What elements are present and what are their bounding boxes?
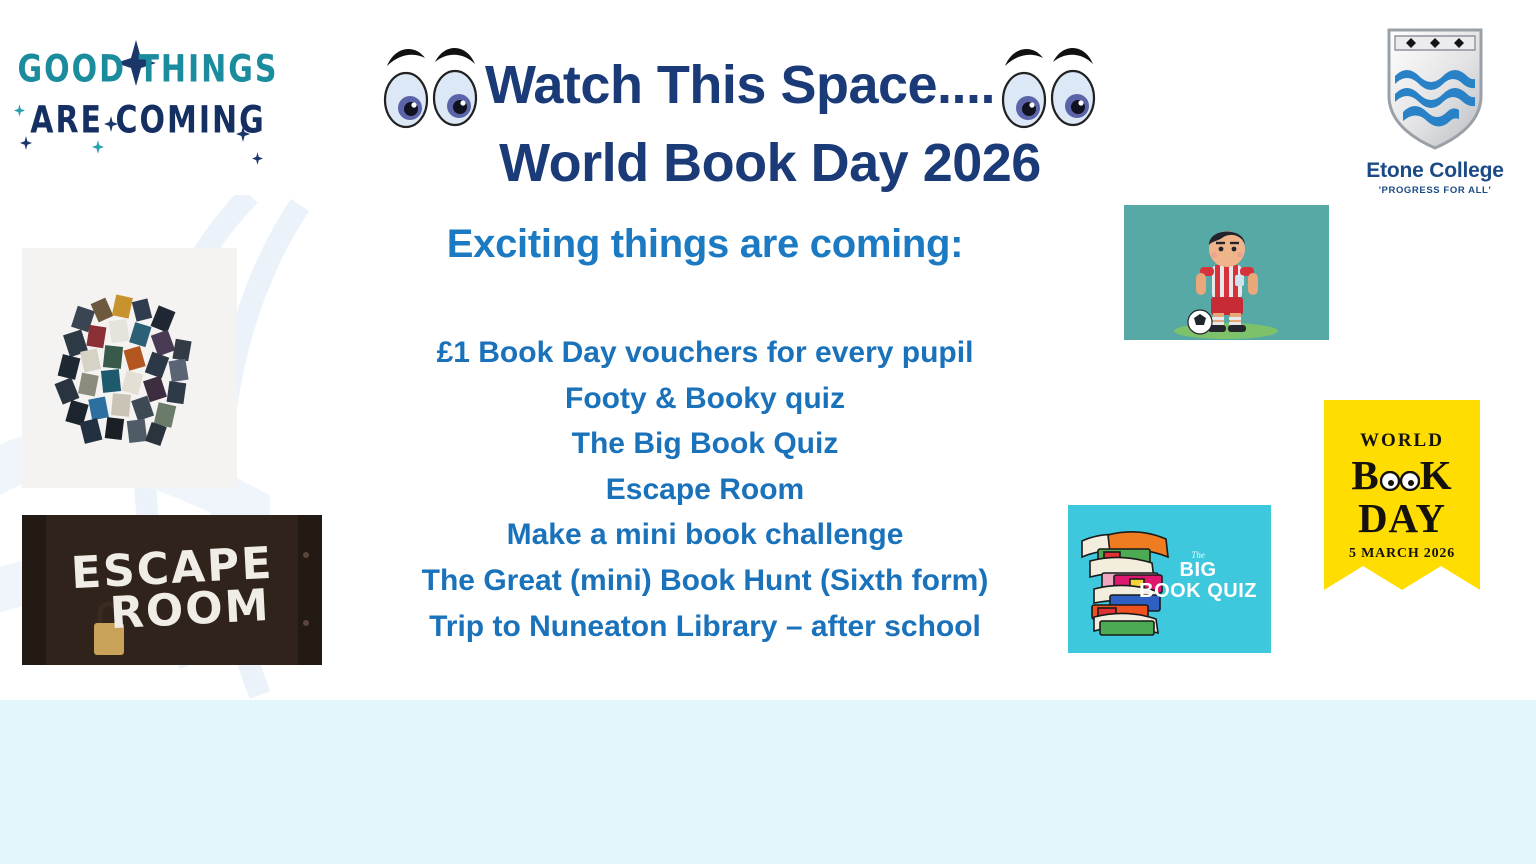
list-item: Footy & Booky quiz [290,376,1120,422]
eyes-icon [381,40,481,132]
partners-footer: BRITISH VALUES AT ETONE COLLEGE [0,700,1536,864]
events-list: £1 Book Day vouchers for every pupil Foo… [290,330,1120,649]
sparkle-small-icon [14,104,25,117]
etone-college-tagline: 'PROGRESS FOR ALL' [1362,185,1508,196]
wbd-date-text: 5 MARCH 2026 [1318,546,1486,562]
title-line-1: Watch This Space.... [485,58,995,113]
etone-shield-icon [1381,24,1489,152]
escape-room-text: ESCAPE ROOM [22,515,322,665]
etone-college-name: Etone College [1362,159,1508,183]
subheading: Exciting things are coming: [290,222,1120,267]
escape-room-image: ESCAPE ROOM [22,515,322,665]
world-book-day-banner: WORLD BK DAY 5 MARCH 2026 [1318,396,1486,614]
bbq-line1: BIG [1139,560,1257,580]
list-item: Make a mini book challenge [290,512,1120,558]
list-item: The Great (mini) Book Hunt (Sixth form) [290,558,1120,604]
sparkle-small-icon [20,136,32,150]
sparkle-small-icon [104,116,118,132]
sparkle-small-icon [236,126,250,142]
bbq-line2: BOOK QUIZ [1139,581,1257,601]
list-item: The Big Book Quiz [290,421,1120,467]
mini-books-photo [22,248,237,488]
sparkle-small-icon [252,152,263,165]
list-item: Trip to Nuneaton Library – after school [290,604,1120,650]
footballer-illustration [1124,205,1329,340]
page-title: Watch This Space.... World Book Day 2026 [290,40,1190,191]
wbd-book-text: BK [1318,451,1486,499]
bbq-the: The [1139,551,1257,560]
big-book-quiz-card: The BIG BOOK QUIZ [1068,505,1271,653]
etone-college-logo: Etone College 'PROGRESS FOR ALL' [1362,24,1508,200]
wbd-world-text: WORLD [1318,430,1486,452]
wbd-day-text: DAY [1318,494,1486,542]
big-book-quiz-text: The BIG BOOK QUIZ [1139,551,1257,601]
list-item: Escape Room [290,467,1120,513]
sparkle-small-icon [92,140,104,154]
good-things-are-coming-logo: GOOD THINGS ARE COMING [8,52,288,192]
eyes-icon [999,40,1099,132]
escape-room-line2: ROOM [109,585,271,636]
title-line-2: World Book Day 2026 [290,136,1190,191]
gtac-line1: GOOD THINGS [8,48,288,92]
list-item: £1 Book Day vouchers for every pupil [290,330,1120,376]
